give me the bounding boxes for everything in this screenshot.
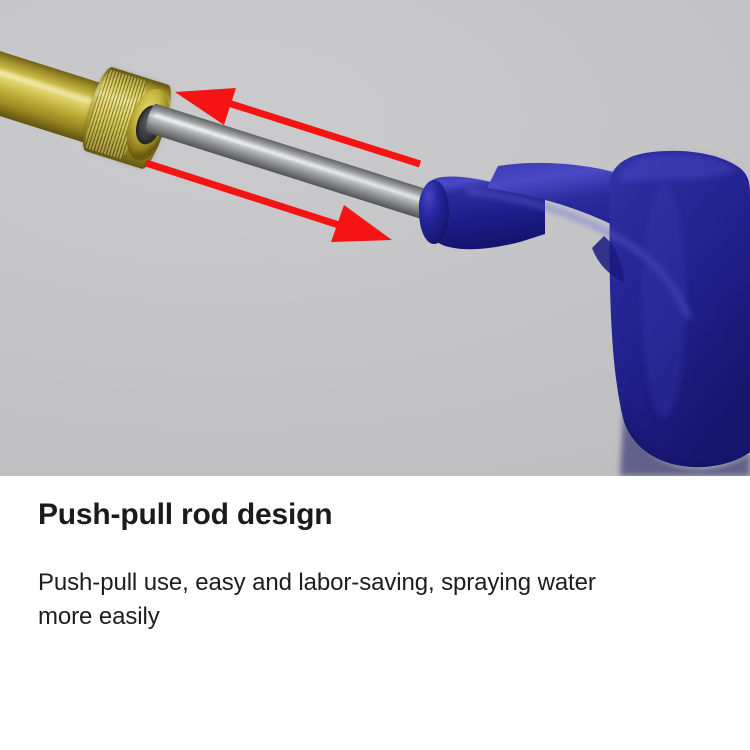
product-photo <box>0 0 750 476</box>
direction-arrows-layer <box>0 0 750 476</box>
feature-description: Push-pull use, easy and labor-saving, sp… <box>38 566 638 634</box>
feature-title: Push-pull rod design <box>38 498 332 532</box>
product-feature-card: Push-pull rod design Push-pull use, easy… <box>0 0 750 750</box>
direction-arrows <box>0 0 750 476</box>
caption-block: Push-pull rod design Push-pull use, easy… <box>0 476 750 750</box>
arrow-push-icon <box>146 163 392 242</box>
arrow-pull-icon <box>175 88 420 164</box>
